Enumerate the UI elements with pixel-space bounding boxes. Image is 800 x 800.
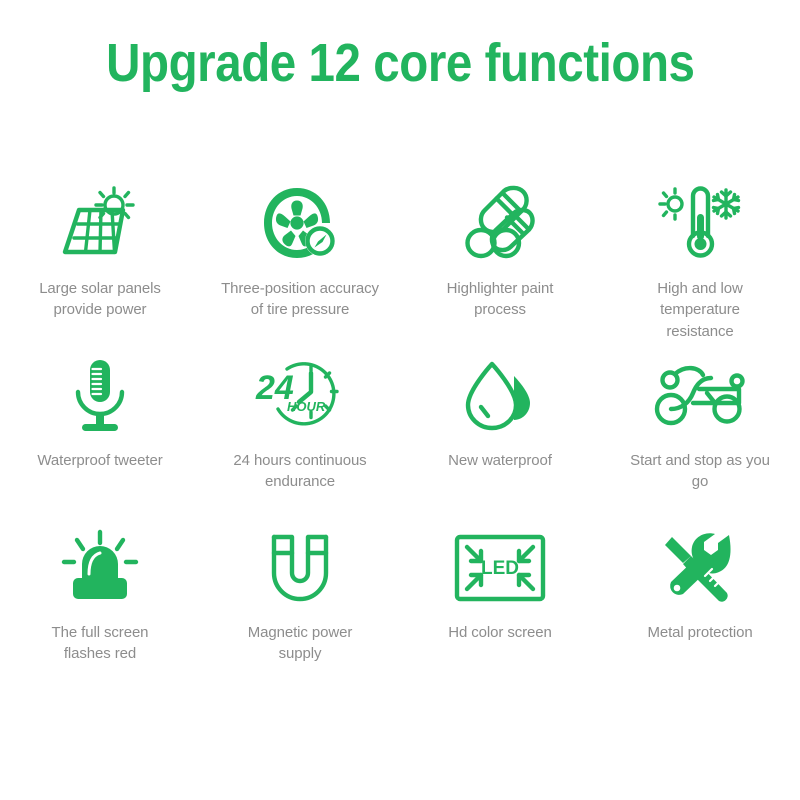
microphone-icon bbox=[52, 356, 148, 436]
led-screen-icon: LED bbox=[452, 528, 548, 608]
feature-item-waterproof-tweeter: Waterproof tweeter bbox=[0, 350, 200, 522]
feature-label: Hd color screen bbox=[408, 622, 592, 643]
horseshoe-magnet-icon bbox=[252, 528, 348, 608]
feature-item-hd-color-screen: LED Hd color screen bbox=[400, 522, 600, 694]
feature-item-start-stop: Start and stop as you go bbox=[600, 350, 800, 522]
feature-item-tire-pressure: Three-position accuracy of tire pressure bbox=[200, 178, 400, 350]
feature-item-new-waterproof: New waterproof bbox=[400, 350, 600, 522]
feature-label: Highlighter paint process bbox=[408, 278, 592, 321]
feature-label: 24 hours continuous endurance bbox=[208, 450, 392, 493]
page-title: Upgrade 12 core functions bbox=[106, 34, 694, 93]
feature-label: Start and stop as you go bbox=[608, 450, 792, 493]
feature-label: Metal protection bbox=[608, 622, 792, 643]
infographic-page: Upgrade 12 core functions bbox=[0, 0, 800, 800]
siren-light-icon bbox=[52, 528, 148, 608]
feature-item-24-hours: 24 HOUR 24 hours continuous endurance bbox=[200, 350, 400, 522]
feature-label: New waterproof bbox=[408, 450, 592, 471]
led-screen-label: LED bbox=[481, 558, 519, 579]
feature-label: Large solar panels provide power bbox=[8, 278, 192, 321]
feature-label: Waterproof tweeter bbox=[8, 450, 192, 471]
feature-label: Magnetic power supply bbox=[208, 622, 392, 665]
solar-panel-icon bbox=[52, 184, 148, 264]
feature-item-solar-panel: Large solar panels provide power bbox=[0, 178, 200, 350]
motorcycle-icon bbox=[652, 356, 748, 436]
feature-grid: Large solar panels provide power bbox=[0, 178, 800, 694]
feature-item-metal-protection: Metal protection bbox=[600, 522, 800, 694]
feature-item-temperature-resistance: High and low temperature resistance bbox=[600, 178, 800, 350]
wrench-screwdriver-icon bbox=[652, 528, 748, 608]
clock-unit-text: HOUR bbox=[287, 399, 326, 414]
feature-item-highlighter-paint: Highlighter paint process bbox=[400, 178, 600, 350]
thermometer-hot-cold-icon bbox=[652, 184, 748, 264]
feature-item-flash-red: The full screen flashes red bbox=[0, 522, 200, 694]
feature-label: Three-position accuracy of tire pressure bbox=[208, 278, 392, 321]
tire-pressure-gauge-icon bbox=[252, 184, 348, 264]
feature-label: The full screen flashes red bbox=[8, 622, 192, 665]
feature-label: High and low temperature resistance bbox=[608, 278, 792, 342]
clock-24-hour-icon: 24 HOUR bbox=[252, 356, 348, 436]
feature-item-magnetic-power: Magnetic power supply bbox=[200, 522, 400, 694]
water-drop-icon bbox=[452, 356, 548, 436]
page-title-container: Upgrade 12 core functions bbox=[0, 34, 800, 93]
paint-tubes-icon bbox=[452, 184, 548, 264]
